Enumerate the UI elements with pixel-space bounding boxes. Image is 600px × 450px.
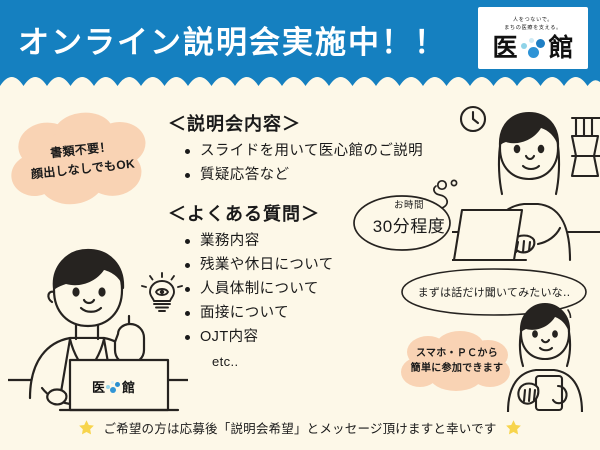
illustration-attendee-with-phone (496, 300, 600, 412)
logo-tagline-line1: 人をつないで。 (513, 16, 553, 24)
page-title: オンライン説明会実施中！！ (18, 20, 468, 66)
heading-faq: ＜よくある質問＞ (168, 200, 320, 226)
logo-kanji-right: 館 (549, 35, 574, 60)
list-item: 業務内容 (182, 231, 334, 252)
logo-wordmark: 医 館 (492, 35, 573, 60)
star-icon (505, 419, 522, 436)
bubble-no-documents-text: 書類不要！ 顔出しなしでもOK (3, 105, 160, 216)
laptop-logo-kanji-right: 館 (122, 377, 135, 396)
list-item-etc: etc.. (182, 351, 334, 372)
illustration-presenter-at-laptop: 医 館 (8, 238, 188, 413)
footer-note: ご希望の方は応募後「説明会希望」とメッセージ頂けますと幸いです (0, 412, 600, 442)
bubble-no-documents: 書類不要！ 顔出しなしでもOK (3, 105, 160, 216)
list-item: 残業や休日について (182, 255, 334, 276)
footer-text: ご希望の方は応募後「説明会希望」とメッセージ頂けますと幸いです (103, 418, 496, 437)
kokoro-dots-mark-icon (520, 35, 547, 60)
laptop-logo-kanji-left: 医 (92, 377, 105, 396)
illustration-attendee-at-laptop (452, 100, 600, 265)
kokoro-dots-mark-icon (106, 380, 121, 394)
devices-line2: 簡単に参加できます (411, 361, 504, 377)
logo-kanji-left: 医 (492, 35, 517, 60)
list-item: OJT内容 (182, 327, 334, 348)
duration-label: お時間 (394, 197, 424, 211)
star-icon (78, 419, 95, 436)
scalloped-edge (0, 68, 600, 100)
list-faq: 業務内容 残業や休日について 人員体制について 面接について OJT内容 etc… (182, 231, 334, 375)
devices-line1: スマホ・ＰＣから (416, 346, 498, 362)
list-item: 面接について (182, 303, 334, 324)
list-item: 人員体制について (182, 279, 334, 300)
laptop-brand-logo: 医 館 (92, 377, 135, 396)
duration-value: 30分程度 (373, 212, 445, 237)
brand-logo: 人をつないで。 まちの医療を支える。 医 館 (478, 7, 588, 69)
list-item: スライドを用いて医心館のご説明 (182, 141, 423, 162)
poster-canvas: オンライン説明会実施中！！ 人をつないで。 まちの医療を支える。 医 館 (0, 0, 600, 450)
no-documents-line2: 顔出しなしでもOK (30, 155, 136, 184)
heading-session-contents: ＜説明会内容＞ (168, 110, 301, 136)
header-banner: オンライン説明会実施中！！ 人をつないで。 まちの医療を支える。 医 館 (0, 0, 600, 100)
logo-tagline-line2: まちの医療を支える。 (504, 24, 562, 32)
bubble-duration: お時間 30分程度 (350, 178, 468, 256)
bubble-duration-text: お時間 30分程度 (350, 178, 468, 256)
